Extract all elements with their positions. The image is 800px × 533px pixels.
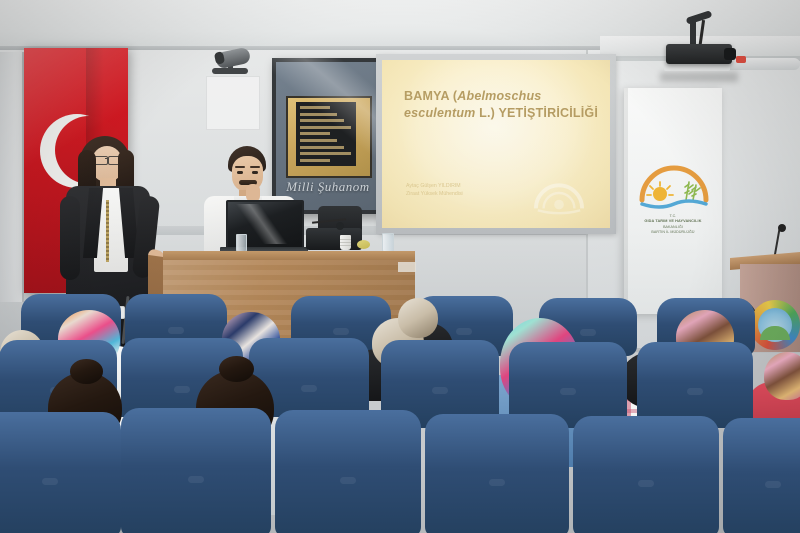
desk-label-tag	[398, 262, 416, 272]
wall-poster	[206, 76, 260, 130]
banner-edge-shadow	[624, 88, 628, 314]
operator-eye-right	[252, 171, 258, 174]
seat-dimple	[687, 388, 703, 395]
banner-line3: BARTIN İL MÜDÜRLÜĞÜ	[630, 230, 716, 235]
desk-top-surface	[163, 251, 415, 260]
seat-dimple	[168, 327, 184, 334]
seat-row1-3[interactable]	[282, 416, 414, 533]
attendee-front-left-bun	[70, 359, 103, 383]
credit-name: Aytaç Gülşen YILDIRIM	[406, 182, 526, 190]
plaque-glass-glare	[272, 58, 384, 206]
projector-lens	[724, 48, 736, 60]
seat-dimple	[765, 481, 781, 488]
water-glass-left	[236, 234, 247, 252]
console-knob[interactable]	[336, 222, 344, 230]
av-console[interactable]	[306, 228, 362, 250]
fruit-item	[357, 240, 370, 249]
seat-dimple	[638, 480, 654, 487]
seat-row1-4[interactable]	[432, 420, 562, 533]
ministry-seal-icon	[530, 168, 588, 218]
seat-row1-6[interactable]	[730, 424, 800, 533]
slide-title-plain2: L.) YETİŞTİRİCİLİĞİ	[475, 106, 598, 120]
seat-dimple	[340, 477, 356, 484]
slide-title-italic1: Abelmoschus	[457, 89, 541, 103]
slide-presenter-credit: Aytaç Gülşen YILDIRIM Ziraat Yüksek Mühe…	[406, 182, 526, 198]
seat-dimple	[333, 328, 349, 335]
operator-eyebrow-left	[235, 166, 245, 168]
seat-row1-2[interactable]	[128, 414, 264, 533]
seat-row2-5[interactable]	[516, 348, 620, 424]
seat-dimple	[580, 329, 596, 336]
banner-org-text: T.C. GIDA TARIM VE HAYVANCILIK BAKANLIĞI…	[630, 214, 716, 236]
paper-cup-pattern	[340, 239, 351, 247]
operator-eye-left	[237, 171, 243, 174]
presenter-jacket-trim	[106, 200, 109, 262]
credit-title: Ziraat Yüksek Mühendisi	[406, 190, 526, 198]
seat-row1-5[interactable]	[580, 422, 712, 533]
left-wall-panel	[0, 52, 24, 302]
seat-row1-1[interactable]	[0, 418, 114, 533]
seat-dimple	[432, 387, 448, 394]
operator-eyebrow-right	[250, 166, 260, 168]
presenter-arm-left	[60, 196, 80, 280]
seat-dimple	[42, 478, 58, 485]
lectern-microphone-icon[interactable]	[778, 224, 786, 232]
seat-row2-6[interactable]	[644, 348, 746, 424]
attendee-far-right-head	[764, 352, 800, 400]
seat-dimple	[174, 386, 190, 393]
ceiling-projector-icon	[666, 44, 732, 64]
water-glass-right	[382, 233, 394, 252]
attendee-back-right-head	[398, 298, 438, 338]
seat-dimple	[560, 388, 576, 395]
slide-title-italic2: esculentum	[404, 106, 475, 120]
seat-dimple	[301, 385, 317, 392]
slide-title: BAMYA (Abelmoschus esculentum L.) YETİŞT…	[404, 88, 604, 122]
projector-power-indicator	[736, 56, 746, 63]
seat-dimple	[188, 476, 204, 483]
attendee-front-center-bun	[219, 356, 253, 382]
seat-dimple	[456, 328, 472, 335]
presenter-glasses-bridge	[105, 158, 109, 159]
seminar-photo: Milli Şuhanom BAMYA (Abelmoschus esculen…	[0, 0, 800, 533]
seat-dimple	[489, 479, 505, 486]
sun-wheat-rainbow-logo-icon	[636, 160, 712, 212]
projector-pole	[690, 18, 696, 46]
projector-shadow	[660, 72, 738, 82]
slide-title-plain1: BAMYA (	[404, 89, 457, 103]
